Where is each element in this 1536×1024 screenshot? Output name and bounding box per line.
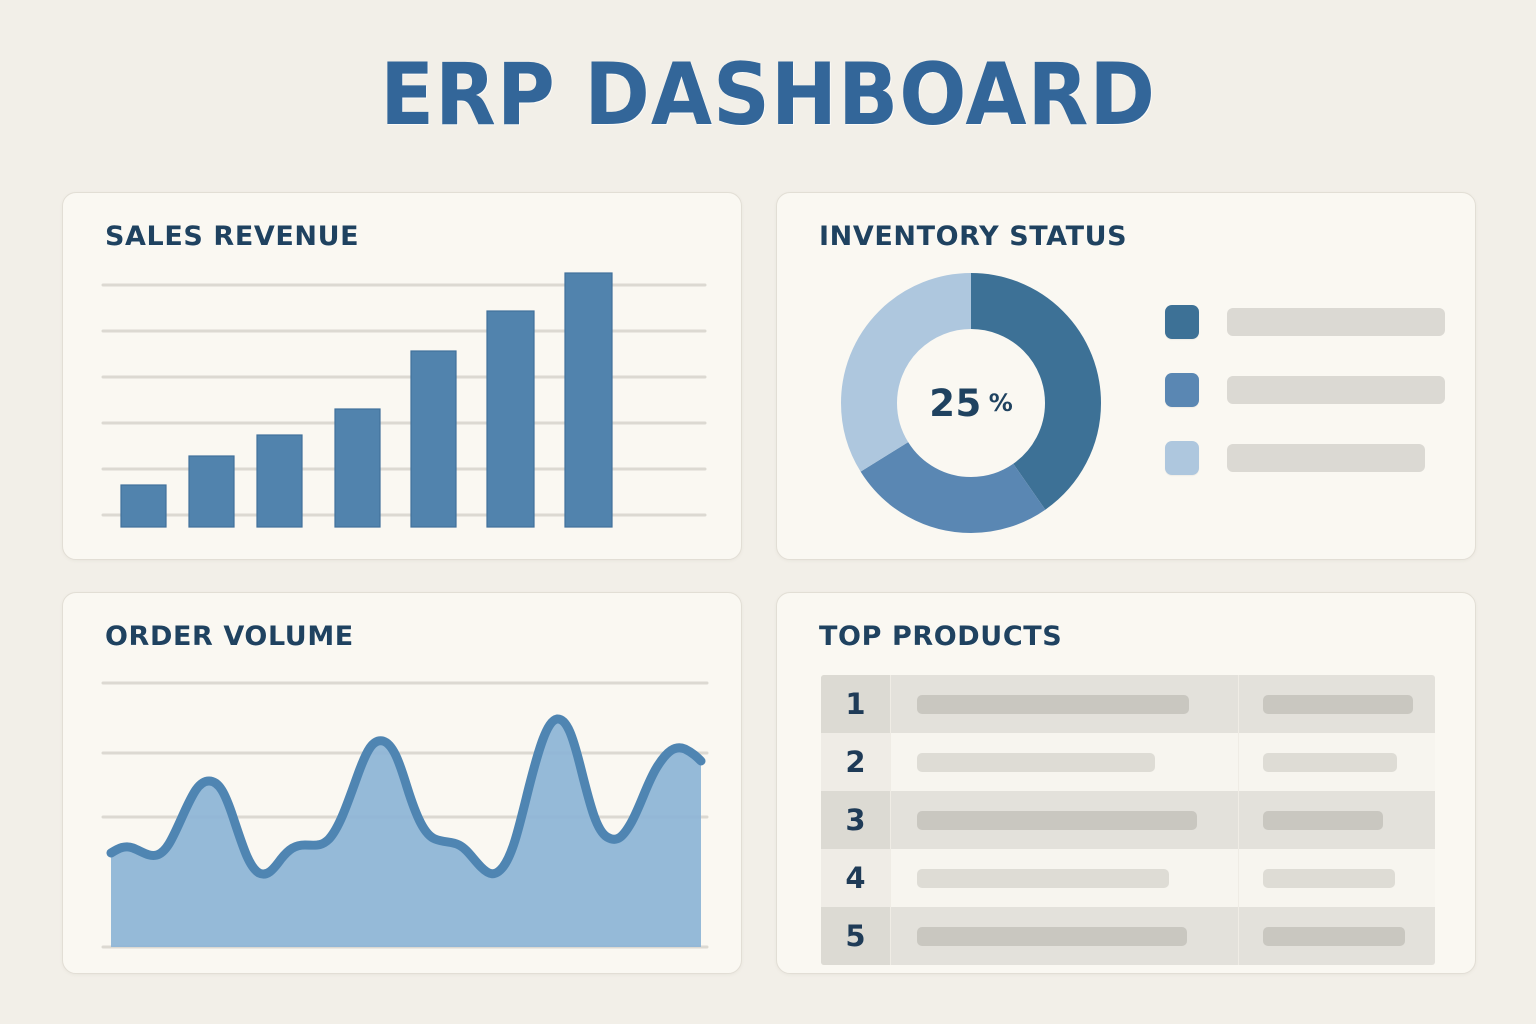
legend-label-placeholder-2 [1227,376,1445,404]
order-volume-area-chart [99,665,711,955]
row-rank: 1 [821,675,891,733]
legend-swatch-icon-1 [1165,305,1199,339]
row-metric-cell [1239,907,1435,965]
row-rank: 3 [821,791,891,849]
row-product-cell [891,675,1239,733]
bar-1 [121,485,166,527]
row-metric-placeholder [1263,753,1397,772]
row-metric-cell [1239,733,1435,791]
row-metric-cell [1239,791,1435,849]
bar-2 [189,456,234,527]
legend-label-placeholder-1 [1227,308,1445,336]
legend-item-1[interactable] [1165,305,1445,339]
row-metric-cell [1239,675,1435,733]
row-metric-cell [1239,849,1435,907]
row-product-placeholder [917,695,1189,714]
row-rank: 5 [821,907,891,965]
row-product-cell [891,791,1239,849]
row-product-placeholder [917,811,1197,830]
card-inventory-status: INVENTORY STATUS 25 % [776,192,1476,560]
card-title-sales-revenue: SALES REVENUE [105,221,359,252]
legend-swatch-icon-3 [1165,441,1199,475]
row-product-cell [891,733,1239,791]
bar-7 [565,273,612,527]
table-row[interactable]: 3 [821,791,1435,849]
card-title-top-products: TOP PRODUCTS [819,621,1062,652]
top-products-table: 1 2 3 4 [821,675,1435,965]
table-row[interactable]: 5 [821,907,1435,965]
row-product-cell [891,907,1239,965]
row-rank: 2 [821,733,891,791]
row-metric-placeholder [1263,695,1413,714]
card-title-order-volume: ORDER VOLUME [105,621,354,652]
bar-5 [411,351,456,527]
card-sales-revenue: SALES REVENUE [62,192,742,560]
table-row[interactable]: 2 [821,733,1435,791]
bar-4 [335,409,380,527]
row-product-cell [891,849,1239,907]
card-order-volume: ORDER VOLUME [62,592,742,974]
row-metric-placeholder [1263,927,1405,946]
row-product-placeholder [917,927,1187,946]
row-product-placeholder [917,869,1169,888]
row-metric-placeholder [1263,869,1395,888]
inventory-legend [1165,305,1445,509]
table-row[interactable]: 1 [821,675,1435,733]
legend-item-3[interactable] [1165,441,1445,475]
page-title: ERP DASHBOARD [61,52,1474,138]
bar-6 [487,311,534,527]
row-rank: 4 [821,849,891,907]
sales-revenue-bar-chart [99,263,709,541]
card-title-inventory-status: INVENTORY STATUS [819,221,1127,252]
row-metric-placeholder [1263,811,1383,830]
legend-swatch-icon-2 [1165,373,1199,407]
bar-series [121,273,612,527]
card-top-products: TOP PRODUCTS 1 2 3 [776,592,1476,974]
legend-item-2[interactable] [1165,373,1445,407]
legend-label-placeholder-3 [1227,444,1425,472]
row-product-placeholder [917,753,1155,772]
bar-3 [257,435,302,527]
table-row[interactable]: 4 [821,849,1435,907]
inventory-donut-chart: 25 % [831,263,1111,543]
